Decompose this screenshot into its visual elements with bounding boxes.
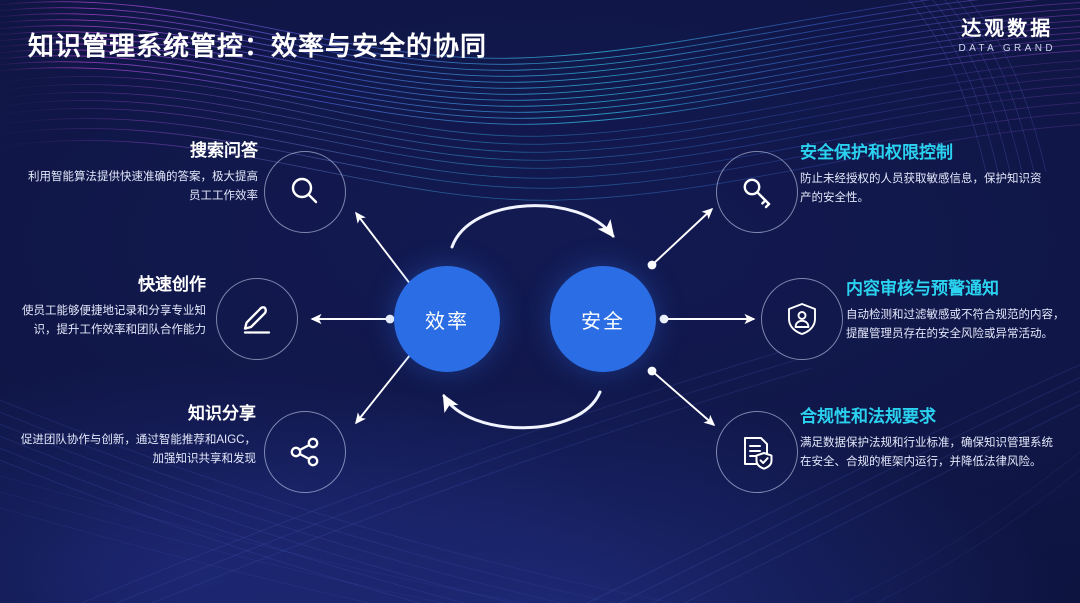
hub-security[interactable]: 安全 [550, 266, 656, 372]
feature-audit: 内容审核与预警通知 自动检测和过滤敏感或不符合规范的内容，提醒管理员存在的安全风… [846, 278, 1070, 344]
feature-compliance-desc: 满足数据保护法规和行业标准，确保知识管理系统在安全、合规的框架内运行，并降低法律… [800, 434, 1062, 472]
feature-permission: 安全保护和权限控制 防止未经授权的人员获取敏感信息，保护知识资产的安全性。 [800, 142, 1048, 208]
feature-create: 快速创作 使员工能够便捷地记录和分享专业知识，提升工作效率和团队合作能力 [6, 274, 206, 340]
hub-security-label: 安全 [581, 305, 625, 334]
search-icon[interactable] [264, 151, 346, 233]
page-title: 知识管理系统管控：效率与安全的协同 [28, 26, 487, 63]
feature-search-title: 搜索问答 [18, 140, 258, 161]
feature-share-desc: 促进团队协作与创新，通过智能推荐和AIGC，加强知识共享和发现 [18, 431, 256, 469]
document-shield-check-icon[interactable] [716, 411, 798, 493]
slide-canvas: 知识管理系统管控：效率与安全的协同 达观数据 DATA GRAND 效率 安全 [0, 0, 1080, 603]
feature-compliance: 合规性和法规要求 满足数据保护法规和行业标准，确保知识管理系统在安全、合规的框架… [800, 406, 1062, 472]
feature-search: 搜索问答 利用智能算法提供快速准确的答案，极大提高员工工作效率 [18, 140, 258, 206]
feature-audit-title: 内容审核与预警通知 [846, 278, 1070, 299]
hub-efficiency-label: 效率 [425, 305, 469, 334]
feature-compliance-title: 合规性和法规要求 [800, 406, 1062, 427]
feature-permission-title: 安全保护和权限控制 [800, 142, 1048, 163]
brand-logo-en: DATA GRAND [958, 43, 1056, 54]
feature-create-title: 快速创作 [6, 274, 206, 295]
feature-create-desc: 使员工能够便捷地记录和分享专业知识，提升工作效率和团队合作能力 [6, 302, 206, 340]
feature-share: 知识分享 促进团队协作与创新，通过智能推荐和AIGC，加强知识共享和发现 [18, 403, 256, 469]
key-icon[interactable] [716, 151, 798, 233]
feature-search-desc: 利用智能算法提供快速准确的答案，极大提高员工工作效率 [18, 168, 258, 206]
pencil-icon[interactable] [216, 278, 298, 360]
share-icon[interactable] [264, 411, 346, 493]
brand-logo: 达观数据 DATA GRAND [958, 18, 1056, 54]
feature-share-title: 知识分享 [18, 403, 256, 424]
brand-logo-cn: 达观数据 [958, 18, 1056, 40]
shield-user-icon[interactable] [761, 278, 843, 360]
hub-efficiency[interactable]: 效率 [394, 266, 500, 372]
connector-arrows [312, 209, 754, 425]
feature-audit-desc: 自动检测和过滤敏感或不符合规范的内容，提醒管理员存在的安全风险或异常活动。 [846, 306, 1070, 344]
feature-permission-desc: 防止未经授权的人员获取敏感信息，保护知识资产的安全性。 [800, 170, 1048, 208]
